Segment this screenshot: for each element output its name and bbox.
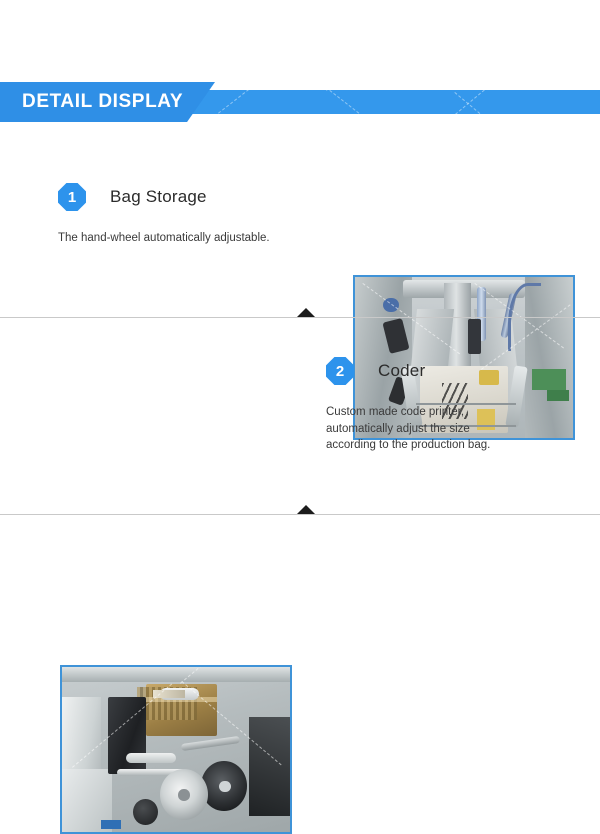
section-2-description: Custom made code printer, automatically … — [326, 404, 576, 454]
section-1-heading: 1 Bag Storage — [58, 180, 328, 214]
section-2-number-badge: 2 — [326, 357, 354, 385]
section-2-description-line: Custom made code printer, — [326, 404, 576, 421]
section-2-photo — [60, 665, 292, 834]
section-divider-2 — [0, 514, 600, 515]
section-divider-arrow-2 — [297, 505, 315, 514]
section-2-heading: 2 Coder — [326, 354, 576, 388]
section-1-description-line: The hand-wheel automatically adjustable. — [58, 230, 328, 247]
section-1-title: Bag Storage — [110, 187, 207, 207]
detail-section-1: 1 Bag Storage The hand-wheel automatical… — [0, 130, 600, 316]
section-1-description: The hand-wheel automatically adjustable. — [58, 230, 328, 247]
code-printer-machine-image — [62, 667, 290, 832]
section-2-description-line: automatically adjust the size — [326, 421, 576, 438]
banner-watermark-line — [326, 64, 360, 91]
section-1-text-column: 1 Bag Storage The hand-wheel automatical… — [58, 180, 328, 247]
page-title: DETAIL DISPLAY — [0, 91, 183, 113]
detail-section-2: 2 Coder Custom made code printer, automa… — [0, 326, 600, 513]
section-divider-arrow-1 — [297, 308, 315, 317]
section-2-text-column: 2 Coder Custom made code printer, automa… — [326, 354, 576, 454]
section-divider-1 — [0, 317, 600, 318]
section-1-number-badge: 1 — [58, 183, 86, 211]
banner-title-block: DETAIL DISPLAY — [0, 82, 215, 122]
detail-display-banner: DETAIL DISPLAY — [0, 82, 600, 122]
section-2-description-line: according to the production bag. — [326, 437, 576, 454]
section-2-title: Coder — [378, 361, 425, 381]
